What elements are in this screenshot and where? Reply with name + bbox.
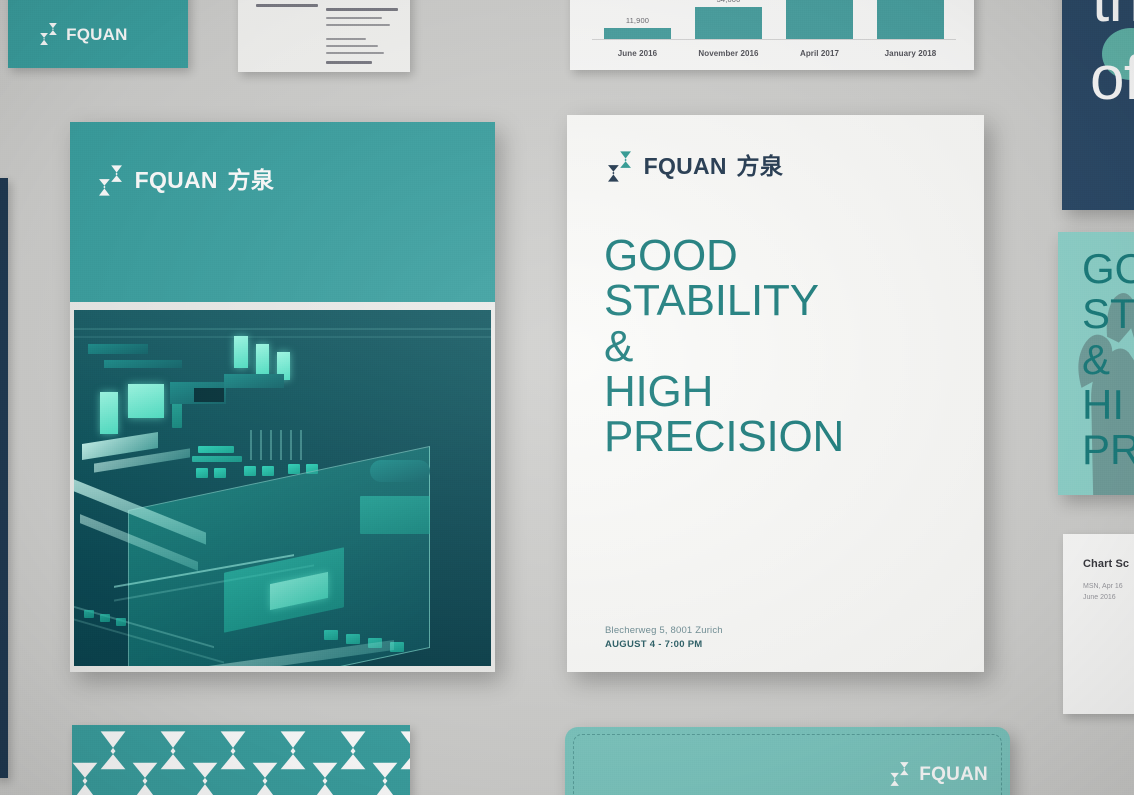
- bc-web-line: [326, 61, 372, 64]
- bc-contact-line-1: [326, 38, 366, 40]
- bar-series: 11,90034,000: [592, 0, 956, 40]
- poster-cjk-name: 方泉: [736, 155, 783, 178]
- pattern-chevron-icon: [366, 728, 410, 795]
- fquan-chevron-mark-icon: [888, 761, 911, 787]
- circuit-board-photo: [74, 310, 491, 666]
- poster-footer: Blecherweg 5, 8001 Zurich AUGUST 4 - 7:0…: [605, 625, 723, 650]
- bc-role-line-2: [326, 24, 390, 26]
- fabric-logo-lockup: FQUAN: [888, 761, 988, 787]
- teal-headline-line: HI: [1082, 382, 1134, 427]
- pattern-chevron-icon: [186, 728, 252, 795]
- pattern-chevron-icon: [72, 728, 132, 795]
- chart-card-subtitle-line: June 2016: [1083, 593, 1123, 604]
- bar: [695, 7, 762, 40]
- chart-x-tick-labels: June 2016November 2016April 2017January …: [592, 49, 956, 58]
- chevron-pattern: [72, 725, 410, 795]
- teal-headline-line: PR: [1082, 427, 1134, 472]
- headline-line: HIGH: [604, 369, 960, 414]
- headline-line: STABILITY: [604, 278, 960, 323]
- bar-column: 34,000: [688, 0, 768, 40]
- pattern-chevron-icon: [306, 728, 372, 795]
- bc-company-line: [256, 4, 318, 7]
- bar-value-label: 11,900: [626, 16, 649, 25]
- poster-wordmark: FQUAN: [644, 155, 727, 178]
- bar-value-label: 34,000: [717, 0, 741, 4]
- business-card: [238, 0, 410, 72]
- chart-sheet-right: Chart Sc MSN, Apr 16June 2016: [1063, 534, 1134, 714]
- navy-poster-card: th of: [1062, 0, 1134, 210]
- bc-contact-line-3: [326, 52, 384, 54]
- pcb-artwork: [74, 310, 491, 666]
- wordmark-text: FQUAN: [66, 26, 127, 43]
- x-tick-label: November 2016: [688, 49, 768, 58]
- brochure-wordmark: FQUAN: [135, 169, 218, 192]
- headline-line: GOOD: [604, 233, 960, 278]
- teal-headline-line: &: [1082, 337, 1134, 382]
- fquan-chevron-mark-icon: [96, 164, 125, 197]
- bar-chart-plot: 11,90034,000: [592, 0, 956, 40]
- fquan-chevron-mark-icon: [38, 22, 59, 46]
- bar: [877, 0, 944, 40]
- logo-lockup: FQUAN: [38, 22, 128, 46]
- branding-mockup-scene: FQUAN 11,90034,000 June 2016November 201…: [0, 0, 1134, 795]
- poster-date: AUGUST 4 - 7:00 PM: [605, 639, 723, 650]
- navy-headline-line-2: of: [1090, 50, 1134, 109]
- x-tick-label: June 2016: [597, 49, 677, 58]
- bar: [786, 0, 853, 40]
- pattern-card: [72, 725, 410, 795]
- brochure-cjk-name: 方泉: [227, 169, 274, 192]
- teal-poster-variant: GOST&HIPR: [1058, 232, 1134, 495]
- main-poster: FQUAN 方泉 GOODSTABILITY&HIGHPRECISION Ble…: [567, 115, 984, 672]
- bc-role-line-1: [326, 17, 382, 19]
- pattern-chevron-icon: [126, 728, 192, 795]
- navy-headline-line-1: th: [1092, 0, 1134, 31]
- brochure-teal-header: [70, 122, 495, 302]
- chart-sheet-top: 11,90034,000 June 2016November 2016April…: [570, 0, 974, 70]
- headline-line: PRECISION: [604, 414, 960, 459]
- fabric-pouch: FQUAN: [565, 727, 1010, 795]
- left-edge-navy-strip: [0, 178, 8, 778]
- headline-line: &: [604, 324, 960, 369]
- teal-headline-line: GO: [1082, 246, 1134, 291]
- bar-column: 11,900: [597, 0, 677, 40]
- poster-logo-lockup: FQUAN 方泉: [605, 150, 783, 183]
- bc-name-line: [326, 8, 398, 11]
- poster-address: Blecherweg 5, 8001 Zurich: [605, 625, 723, 636]
- brochure-cover: FQUAN 方泉: [70, 122, 495, 672]
- teal-headline-line: ST: [1082, 291, 1134, 336]
- pattern-chevron-icon: [246, 728, 312, 795]
- chart-x-axis: [592, 39, 956, 40]
- poster-headline: GOODSTABILITY&HIGHPRECISION: [604, 233, 960, 460]
- chart-card-subtitle: MSN, Apr 16June 2016: [1083, 582, 1123, 604]
- fquan-chevron-mark-icon: [605, 150, 634, 183]
- top-left-teal-card: FQUAN: [8, 0, 188, 68]
- bar-column: [870, 0, 950, 40]
- x-tick-label: January 2018: [870, 49, 950, 58]
- teal-poster-headline: GOST&HIPR: [1082, 246, 1134, 473]
- bar-column: [779, 0, 859, 40]
- fabric-wordmark: FQUAN: [919, 765, 988, 784]
- chart-card-title: Chart Sc: [1083, 558, 1129, 570]
- chart-card-subtitle-line: MSN, Apr 16: [1083, 582, 1123, 593]
- x-tick-label: April 2017: [779, 49, 859, 58]
- bc-contact-line-2: [326, 45, 378, 47]
- brochure-logo-lockup: FQUAN 方泉: [96, 164, 274, 197]
